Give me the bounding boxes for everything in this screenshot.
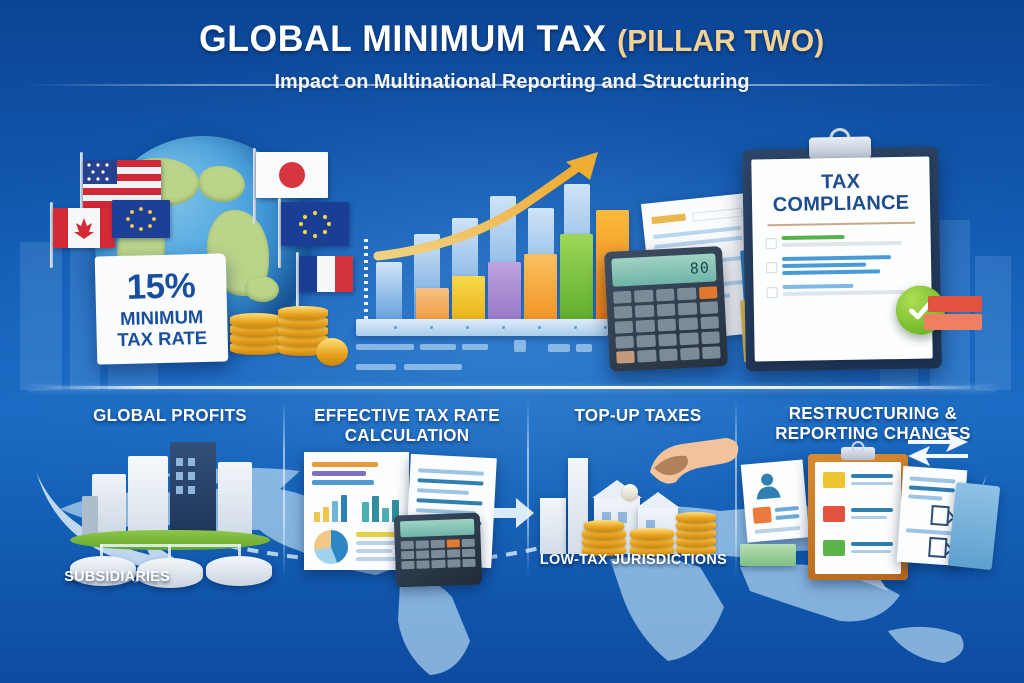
- checkbox-icon[interactable]: [766, 287, 777, 298]
- restructuring-clipboard: [808, 454, 908, 580]
- process-flow-band: GLOBAL PROFITS SUBSIDIARIES: [0, 396, 1024, 596]
- step2-label-line1: EFFECTIVE TAX RATE: [314, 405, 500, 425]
- calculator-display: 80: [611, 253, 716, 286]
- page-title-main: GLOBAL MINIMUM TAX: [199, 18, 607, 59]
- calculator-keypad[interactable]: [613, 286, 721, 363]
- minimum-rate-line3: TAX RATE: [117, 327, 207, 350]
- pie-chart-icon: [314, 530, 348, 564]
- person-icon: [751, 469, 784, 502]
- step4-label-line1: RESTRUCTURING &: [789, 403, 957, 423]
- subsidiary-node: [206, 556, 272, 586]
- flag-european-union-left: [112, 200, 170, 238]
- step-label-effective-tax-rate: EFFECTIVE TAX RATE CALCULATION: [299, 406, 514, 446]
- calculator-display-value: 80: [689, 259, 710, 278]
- book-stack-icon: [928, 296, 982, 312]
- header-title-block: GLOBAL MINIMUM TAX (PILLAR TWO) Impact o…: [0, 18, 1024, 94]
- step2-label-line2: CALCULATION: [345, 425, 470, 445]
- minimum-rate-line2: MINIMUM: [120, 307, 204, 330]
- clipboard-checklist-row: [766, 255, 918, 279]
- growth-bar-chart: [352, 150, 622, 380]
- coin-falling: [622, 484, 638, 500]
- clipboard-checklist-row: [766, 234, 918, 251]
- minimum-rate-percent: 15%: [126, 268, 195, 305]
- step-label-global-profits: GLOBAL PROFITS: [63, 406, 276, 426]
- sublabel-subsidiaries: SUBSIDIARIES: [64, 568, 170, 585]
- page-title-accent: (PILLAR TWO): [617, 23, 824, 58]
- page-title: GLOBAL MINIMUM TAX (PILLAR TWO): [199, 18, 824, 60]
- clipboard-clasp-icon: [809, 136, 871, 159]
- flag-japan: [256, 152, 328, 198]
- blue-folder-icon: [948, 482, 1001, 570]
- step-label-top-up-taxes: TOP-UP TAXES: [543, 406, 733, 426]
- header-divider: [24, 84, 1000, 86]
- clipboard-paper: TAX COMPLIANCE: [751, 156, 932, 361]
- flag-italy: [299, 256, 353, 292]
- section-divider: [28, 386, 996, 389]
- flag-canada: [53, 208, 115, 248]
- infographic-canvas: GLOBAL MINIMUM TAX (PILLAR TWO) Impact o…: [0, 0, 1024, 683]
- clipboard-checklist-row: [766, 283, 918, 300]
- hand-icon: [620, 432, 740, 512]
- coin-stack-hero: [226, 300, 346, 362]
- id-card-document: [741, 459, 810, 542]
- checkbox-icon[interactable]: [766, 238, 777, 249]
- calculator-icon[interactable]: 80: [604, 246, 728, 372]
- minimum-rate-card: 15% MINIMUM TAX RATE: [95, 253, 229, 364]
- flag-european-union-right: [281, 202, 349, 246]
- report-sheet-charts: [304, 452, 409, 570]
- calculator-icon-small: [394, 513, 482, 588]
- step-icon-office-buildings: [70, 438, 270, 548]
- clipboard-title-line2: COMPLIANCE: [765, 192, 917, 216]
- growth-arrow-icon: [352, 150, 622, 332]
- sublabel-low-tax-jurisdictions: LOW-TAX JURISDICTIONS: [540, 551, 727, 568]
- checkbox-icon[interactable]: [766, 262, 777, 273]
- cash-stack-icon: [740, 544, 796, 566]
- book-stack-icon: [924, 314, 982, 330]
- tax-compliance-clipboard: TAX COMPLIANCE: [742, 146, 942, 371]
- page-subtitle: Impact on Multinational Reporting and St…: [15, 70, 1008, 94]
- flow-arrow-icon: [490, 492, 536, 534]
- clipboard-rule: [767, 222, 915, 227]
- change-arrows-icon: [902, 426, 974, 466]
- panel-divider: [283, 400, 285, 576]
- panel-divider: [527, 400, 529, 576]
